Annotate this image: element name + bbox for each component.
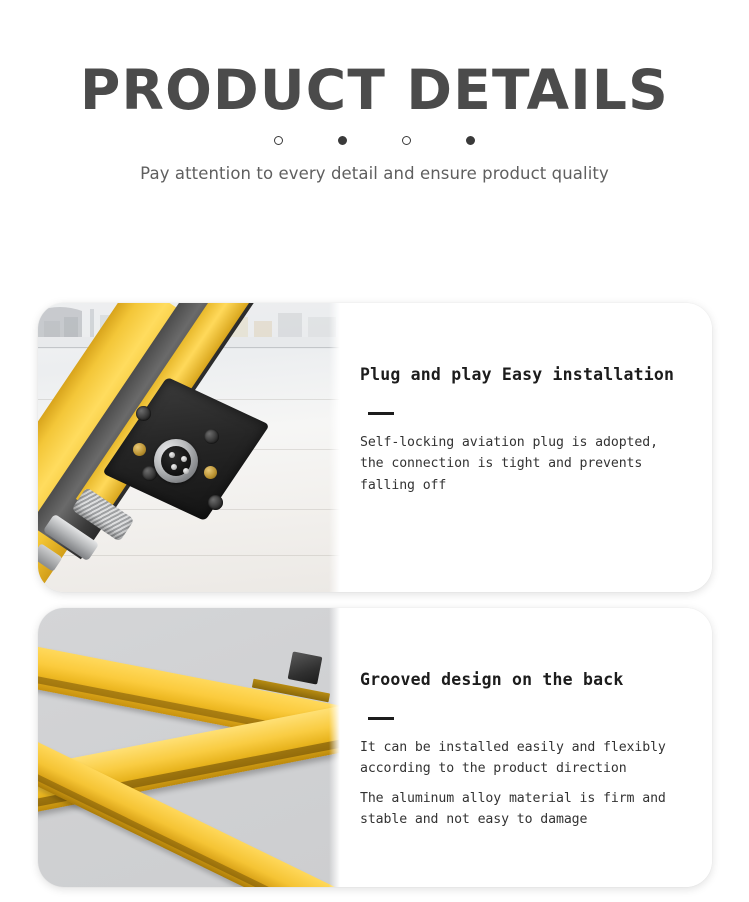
feature-description: It can be installed easily and flexibly …	[360, 737, 688, 780]
feature-title: Grooved design on the back	[360, 670, 688, 690]
decorative-dot-row	[0, 134, 749, 148]
decorative-dot-4	[466, 136, 475, 145]
feature-card-grooved-design: Grooved design on the back It can be ins…	[38, 608, 712, 887]
aviation-connector-socket	[154, 439, 198, 483]
screw-icon	[204, 429, 219, 444]
connector-pin	[169, 452, 175, 458]
media-edge-fade	[329, 303, 343, 592]
page-subtitle: Pay attention to every detail and ensure…	[0, 164, 749, 183]
profile-end-cap	[288, 651, 323, 684]
feature-image-grooved-profiles	[38, 608, 343, 887]
brass-insert-icon	[204, 466, 217, 479]
media-edge-fade	[329, 608, 343, 887]
decorative-dot-3	[402, 136, 411, 145]
connector-pin	[181, 456, 187, 462]
product-photo-scene	[38, 608, 343, 887]
feature-text-panel: Plug and play Easy installation Self-loc…	[343, 303, 712, 592]
feature-description: The aluminum alloy material is firm and …	[360, 788, 688, 831]
brass-insert-icon	[133, 443, 146, 456]
screw-icon	[208, 495, 223, 510]
screw-icon	[136, 406, 151, 421]
connector-pin	[171, 464, 177, 470]
page-header: PRODUCT DETAILS Pay attention to every d…	[0, 0, 749, 183]
page-title: PRODUCT DETAILS	[0, 62, 749, 120]
feature-title: Plug and play Easy installation	[360, 365, 688, 385]
connector-pin	[183, 468, 189, 474]
feature-description: Self-locking aviation plug is adopted, t…	[360, 432, 688, 496]
feature-card-plug-and-play: Plug and play Easy installation Self-loc…	[38, 303, 712, 592]
decorative-dot-2	[338, 136, 347, 145]
product-photo-scene	[38, 303, 343, 592]
decorative-dot-1	[274, 136, 283, 145]
title-underline-rule	[368, 412, 394, 415]
feature-text-panel: Grooved design on the back It can be ins…	[343, 608, 712, 887]
title-underline-rule	[368, 717, 394, 720]
feature-image-light-curtain-connector	[38, 303, 343, 592]
